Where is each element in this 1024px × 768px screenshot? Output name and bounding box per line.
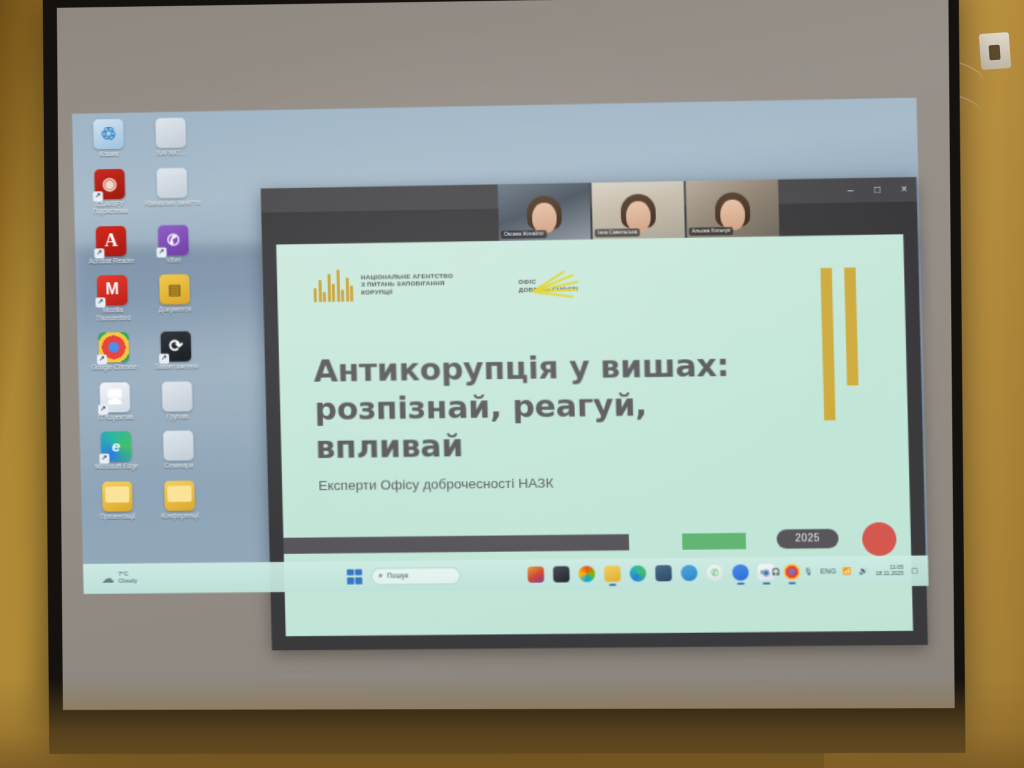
desktop-icon-label: Презентації xyxy=(100,513,136,521)
desktop-icon[interactable]: CLARIFY Підсистема xyxy=(81,168,138,216)
desktop-icon[interactable]: Презентації xyxy=(89,481,146,521)
desktop-icon-grid: КошикХАРАКТ...CLARIFY ПідсистемаНавчальн… xyxy=(80,117,208,520)
logo-bar xyxy=(336,270,340,302)
participant-tile[interactable]: Альона Хильчук xyxy=(686,179,780,237)
person-face xyxy=(626,201,651,232)
headset-icon[interactable]: 🎧 xyxy=(772,568,781,576)
desktop-icon-label: Кошик xyxy=(99,151,118,159)
participant-tile[interactable]: Оксана Жигайло xyxy=(498,183,591,241)
nazk-logo: НАЦІОНАЛЬНЕ АГЕНТСТВО З ПИТАНЬ ЗАПОБІГАН… xyxy=(313,268,454,302)
desktop-icon[interactable]: Документи xyxy=(146,274,203,322)
participant-tile[interactable]: Інна Савельська xyxy=(591,181,684,239)
desktop-icon[interactable]: Навчальні заняття xyxy=(143,167,200,215)
desktop-icon[interactable]: Кошик xyxy=(80,119,137,160)
it-admin-icon xyxy=(100,382,131,412)
desktop-icon[interactable]: ХАРАКТ... xyxy=(142,117,199,158)
desktop-icon[interactable]: Google Chrome xyxy=(85,332,142,372)
taskbar-center: ⌕ Пошук xyxy=(347,567,461,585)
participant-name: Альона Хильчук xyxy=(689,227,734,236)
room-scene: КошикХАРАКТ...CLARIFY ПідсистемаНавчальн… xyxy=(0,0,1024,768)
footer-green-block xyxy=(682,533,746,550)
document-icon xyxy=(156,167,187,198)
excel-icon[interactable] xyxy=(655,565,672,581)
logo-bar xyxy=(314,288,317,302)
desktop-icon[interactable]: Завантаження xyxy=(147,331,204,371)
notifications-icon[interactable]: ▢ xyxy=(911,567,918,575)
footer-red-circle xyxy=(862,522,897,556)
logo-bar xyxy=(350,286,353,302)
document-icon xyxy=(163,430,194,460)
logo-bar xyxy=(327,274,331,302)
notes-icon xyxy=(159,274,190,305)
cloud-icon: ☁ xyxy=(101,571,114,587)
logo-bar xyxy=(345,278,349,302)
desktop-icon[interactable]: Microsoft Edge xyxy=(88,431,145,471)
taskbar-weather-widget[interactable]: ☁ 7°C Cloudy xyxy=(101,570,137,586)
yellow-accent-bar xyxy=(844,268,858,386)
desktop-icon-label: Mozilla Thunderbird xyxy=(85,307,141,323)
wall-outlet xyxy=(979,32,1011,70)
clock-date: 18.11.2025 xyxy=(876,571,904,578)
start-button[interactable] xyxy=(347,569,363,584)
weather-condition: Cloudy xyxy=(118,578,137,585)
search-placeholder: Пошук xyxy=(387,572,409,579)
desktop-icon-label: Acrobat Reader xyxy=(89,257,135,265)
windows-desktop: КошикХАРАКТ...CLARIFY ПідсистемаНавчальн… xyxy=(72,98,929,594)
projection-screen-frame: КошикХАРАКТ...CLARIFY ПідсистемаНавчальн… xyxy=(43,0,966,754)
chrome-icon xyxy=(98,332,129,362)
projection-screen-surface: КошикХАРАКТ...CLARIFY ПідсистемаНавчальн… xyxy=(57,0,955,710)
no-mic-icon[interactable]: 🚫 xyxy=(788,568,797,576)
clarify-icon xyxy=(94,168,125,199)
desktop-icon-label: ІТ Коректив xyxy=(98,414,133,422)
slide-subtitle: Експерти Офісу доброчесності НАЗК xyxy=(318,472,746,494)
desktop-icon-label: Навчальні заняття xyxy=(144,199,200,207)
language-indicator[interactable]: ENG xyxy=(820,568,836,575)
slide-logos: НАЦІОНАЛЬНЕ АГЕНТСТВО З ПИТАНЬ ЗАПОБІГАН… xyxy=(313,266,578,302)
desktop-icon-label: Viber xyxy=(166,257,181,265)
desktop-icon-label: Microsoft Edge xyxy=(95,463,139,471)
maximize-button[interactable]: □ xyxy=(871,184,884,195)
file-explorer-icon[interactable] xyxy=(604,566,621,582)
nazk-logo-mark-icon xyxy=(313,269,353,302)
whatsapp-icon[interactable]: ✆ xyxy=(706,565,723,581)
mic-icon[interactable]: 🎙 xyxy=(804,568,813,576)
wifi-icon[interactable]: 📶 xyxy=(843,567,852,575)
desktop-icon[interactable]: Acrobat Reader xyxy=(83,225,140,265)
document-icon xyxy=(162,381,193,411)
viber-icon xyxy=(158,224,189,255)
search-input[interactable]: ⌕ Пошук xyxy=(371,567,461,585)
logo-bar xyxy=(332,284,335,302)
slide-title: Антикорупція у вишах: розпізнай, реагуй,… xyxy=(313,346,754,467)
desktop-icon-label: ХАРАКТ... xyxy=(156,150,186,158)
sunburst-icon xyxy=(532,258,586,293)
desktop-icon-label: Документи xyxy=(159,306,192,314)
volume-icon[interactable]: 🔊 xyxy=(859,567,868,575)
folder-icon xyxy=(102,481,133,511)
document-icon xyxy=(155,118,186,149)
desktop-icon-label: Google Chrome xyxy=(91,364,137,372)
participant-name: Оксана Жигайло xyxy=(501,230,547,239)
desktop-icon[interactable]: Семінари xyxy=(150,430,207,470)
participant-thumbnail-strip: Оксана ЖигайлоІнна СавельськаАльона Хиль… xyxy=(498,179,780,240)
dark-app-icon[interactable] xyxy=(553,566,570,582)
folder-icon xyxy=(164,480,195,510)
acrobat-reader-icon xyxy=(96,225,127,256)
logo-bar xyxy=(323,292,326,302)
desktop-icon[interactable]: Конференції xyxy=(151,480,208,520)
logo-bar xyxy=(341,290,344,302)
desktop-icon[interactable]: ІТ Коректив xyxy=(87,382,144,422)
sync-icon xyxy=(161,331,192,362)
desktop-icon-label: Конференції xyxy=(161,512,199,520)
recycle-bin-icon xyxy=(93,119,124,150)
telegram-icon[interactable] xyxy=(681,565,698,581)
edge-icon xyxy=(101,431,132,461)
yellow-accent-bar xyxy=(820,268,835,420)
participant-name: Інна Савельська xyxy=(595,228,641,237)
chevron-up-icon[interactable]: ∧ xyxy=(759,568,764,576)
footer-dark-bar xyxy=(283,534,629,554)
system-tray: ∧ 🎧 🚫 🎙 ENG 📶 🔊 11:05 18.11.2025 ▢ xyxy=(759,564,918,579)
wall-bottom xyxy=(0,678,1024,768)
taskbar-clock[interactable]: 11:05 18.11.2025 xyxy=(876,564,904,577)
search-icon: ⌕ xyxy=(378,571,383,581)
desktop-icon[interactable]: Viber xyxy=(145,224,202,265)
person-face xyxy=(532,203,557,234)
year-badge: 2025 xyxy=(776,529,838,549)
desktop-icon-label: Групові xyxy=(167,413,189,421)
art-app-icon[interactable] xyxy=(527,566,544,582)
zoom-icon[interactable] xyxy=(732,564,749,580)
desktop-icon[interactable]: Mozilla Thunderbird xyxy=(84,275,141,323)
desktop-icon-label: CLARIFY Підсистема xyxy=(82,200,138,216)
desktop-icon-label: Семінари xyxy=(164,463,193,471)
desktop-icon-label: Завантаження xyxy=(155,363,199,371)
copilot-icon[interactable] xyxy=(578,566,595,582)
mail-icon xyxy=(97,275,128,305)
person-face xyxy=(720,199,745,230)
logo-bar xyxy=(318,280,322,302)
desktop-icon[interactable]: Групові xyxy=(149,381,206,421)
close-button[interactable]: × xyxy=(898,184,911,195)
microsoft-edge-icon[interactable] xyxy=(630,565,647,581)
nazk-logo-text: НАЦІОНАЛЬНЕ АГЕНТСТВО З ПИТАНЬ ЗАПОБІГАН… xyxy=(361,272,454,296)
office-of-integrity-logo: ОФІС ДОБРОЧЕСНОСТІ xyxy=(518,266,578,294)
minimize-button[interactable]: – xyxy=(844,185,857,196)
